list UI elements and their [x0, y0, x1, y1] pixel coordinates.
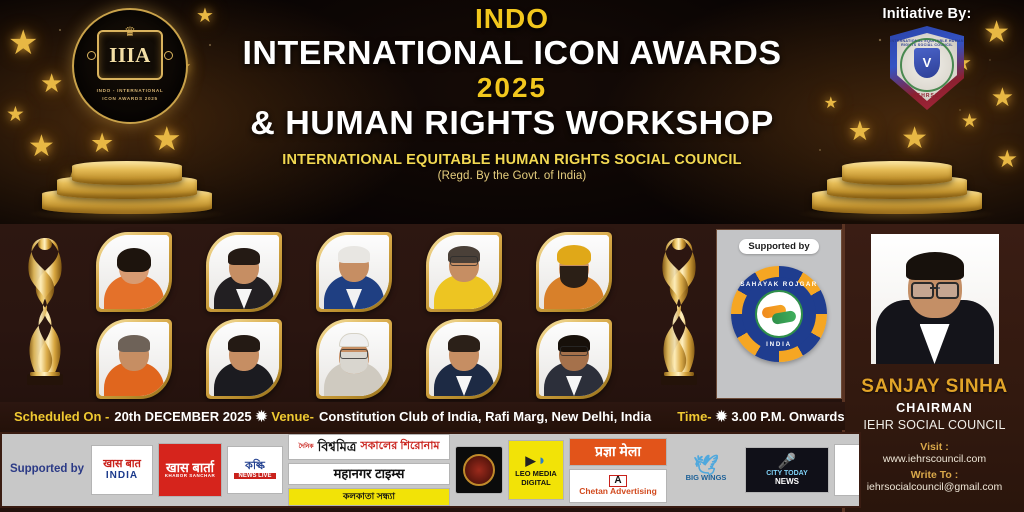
badge-frame: IIIA: [97, 30, 163, 80]
honouree-portrait[interactable]: [316, 232, 392, 312]
time-value: 3.00 P.M. Onwards: [731, 410, 844, 423]
chairman-portrait: [871, 234, 999, 364]
event-date: 20th DECEMBER 2025: [114, 410, 251, 423]
supported-by-chip: Supported by: [739, 239, 818, 254]
badge-caption-line2: ICON AWARDS 2025: [81, 95, 179, 102]
gold-podium: [812, 152, 982, 214]
shield-monogram: V: [914, 48, 940, 78]
shield-bottom-text: IEHRSC: [890, 93, 964, 99]
prayer-cap-icon: [339, 333, 369, 347]
star-icon: ✹: [252, 409, 272, 423]
title-line-year: 2025: [196, 72, 828, 104]
time-label: Time-: [677, 410, 711, 423]
poster-title-block: INDO INTERNATIONAL ICON AWARDS 2025 & HU…: [196, 4, 828, 182]
portrait-photo: [209, 235, 279, 309]
sponsor-logo-emblem-black[interactable]: [455, 446, 503, 494]
council-subtitle: INTERNATIONAL EQUITABLE HUMAN RIGHTS SOC…: [196, 152, 828, 168]
sponsor-logo-text: खास बात: [103, 459, 141, 471]
chairman-role: CHAIRMAN: [845, 401, 1024, 415]
sponsor-logo-column-kalki: কল্কি NEWS LIVE: [227, 446, 283, 494]
trophy-graphic: [648, 232, 710, 392]
sponsor-logo-sub: DIGITAL: [521, 479, 550, 487]
honouree-grid: [96, 232, 646, 400]
sponsor-logo-text: BIG WINGS: [686, 474, 727, 482]
star-icon: ✹: [712, 409, 732, 423]
sponsor-logo-text: सहारा: [860, 461, 861, 477]
portrait-photo: [319, 235, 389, 309]
sponsor-logo-column-bengali: দৈনিক বিশ্বমিত্র সকালের শিরোনাম महानगर ट…: [288, 434, 450, 506]
play-icon: ▶: [525, 454, 535, 468]
sponsor-logo-leo-media-digital[interactable]: ▶ ◗ LEO MEDIA DIGITAL: [508, 440, 564, 500]
award-trophy-statue: [648, 232, 710, 392]
sponsor-logo-pragya-mela[interactable]: प्रज्ञा मेला: [569, 438, 667, 466]
badge-monogram: IIIA: [109, 43, 151, 68]
sponsor-logo-sub: INDIA: [106, 471, 138, 482]
leaf-icon: ◗: [537, 453, 546, 469]
honouree-portrait[interactable]: [536, 232, 612, 312]
scheduled-on-label: Scheduled On -: [14, 410, 109, 423]
sponsor-bar: Supported by खास बात INDIA खास बार्ता KH…: [0, 432, 861, 508]
website-link[interactable]: www.iehrscouncil.com: [845, 453, 1024, 465]
sponsor-logo-text: LEO MEDIA: [515, 470, 557, 478]
sponsor-logo-text: महानगर टाइम्स: [334, 467, 405, 481]
portrait-photo: [99, 322, 169, 396]
sponsor-logo-text: खास बार्ता: [166, 461, 214, 475]
honouree-portrait[interactable]: [536, 319, 612, 399]
sponsor-logo-sub: KHABOR SANCHAR: [165, 474, 216, 479]
initiative-block: Initiative By: INTERNATIONAL EQUITABLE H…: [842, 6, 1012, 110]
chairman-panel: SANJAY SINHA CHAIRMAN IEHR SOCIAL COUNCI…: [842, 224, 1024, 512]
portrait-photo: [99, 235, 169, 309]
schedule-bar: Scheduled On - 20th DECEMBER 2025 ✹ Venu…: [0, 402, 845, 430]
sponsor-logo-text: কলকাতা সন্ধ্যা: [343, 492, 395, 501]
badge-caption-line1: INDO - INTERNATIONAL: [81, 87, 179, 94]
honouree-portrait[interactable]: [316, 319, 392, 399]
portrait-photo: [209, 322, 279, 396]
turban-icon: [557, 245, 591, 265]
sponsor-logo-text: কল্কি: [245, 461, 265, 473]
sponsor-logo-text: प्रज्ञा मेला: [595, 444, 641, 459]
sponsor-logo-sub: NEWS: [775, 478, 799, 486]
honouree-portrait[interactable]: [426, 319, 502, 399]
sponsor-logo-khas-bartaa-india[interactable]: खास बात INDIA: [91, 445, 153, 495]
event-poster: ★ ★ ★ ★ ★ ★ ★ ★ ★ ★ ★ ★ ★ ★ ★ ★ ★ ★ ♛ II…: [0, 0, 1024, 512]
sponsor-logo-big-wings[interactable]: 🕊 BIG WINGS: [672, 446, 740, 494]
sponsor-logo-city-today-news[interactable]: 🎤 CITY TODAY NEWS: [745, 447, 829, 493]
poster-header: ★ ★ ★ ★ ★ ★ ★ ★ ★ ★ ★ ★ ★ ★ ★ ★ ★ ★ ♛ II…: [0, 0, 1024, 224]
sponsor-logo-sahara-jeevan[interactable]: ◠ सहारा जीवन: [834, 444, 861, 496]
sponsor-logo-kolkata-sandhya[interactable]: কলকাতা সন্ধ্যা: [288, 488, 450, 506]
microphone-icon: 🎤: [778, 454, 797, 469]
chairman-organisation: IEHR SOCIAL COUNCIL: [845, 418, 1024, 432]
write-to-label: Write To :: [845, 469, 1024, 481]
handshake-icon: [762, 304, 796, 324]
honouree-portrait[interactable]: [96, 232, 172, 312]
initiative-label: Initiative By:: [842, 6, 1012, 22]
honouree-portrait[interactable]: [426, 232, 502, 312]
award-trophy-statue: [14, 232, 76, 392]
supported-by-panel: Supported by SAHAYAK ROJGAR INDIA: [716, 229, 842, 399]
sponsor-supported-by-label: Supported by: [8, 463, 86, 477]
portrait-photo: [539, 235, 609, 309]
sponsor-logo-mahanagar-times[interactable]: महानगर टाइम्स: [288, 463, 450, 485]
honouree-portrait[interactable]: [96, 319, 172, 399]
sponsor-logo-text: Chetan Advertising: [579, 487, 657, 496]
portrait-photo: [429, 235, 499, 309]
logo-bottom-text: INDIA: [731, 341, 827, 348]
glasses-icon: [911, 282, 959, 296]
portrait-photo: [429, 322, 499, 396]
registration-note: (Regd. By the Govt. of India): [196, 170, 828, 182]
title-line-workshop: & HUMAN RIGHTS WORKSHOP: [187, 104, 838, 142]
sponsor-logo-chetan-advertising[interactable]: A Chetan Advertising: [569, 469, 667, 503]
sponsor-logo-bishwamitra[interactable]: দৈনিক বিশ্বমিত্র সকালের শিরোনাম: [288, 434, 450, 460]
sponsor-logo-kalki-news-live[interactable]: কল্কি NEWS LIVE: [227, 446, 283, 494]
portrait-photo: [319, 322, 389, 396]
title-line-indo: INDO: [196, 4, 828, 34]
award-logo-badge: ♛ IIIA INDO - INTERNATIONAL ICON AWARDS …: [72, 8, 188, 124]
sponsor-logo-text: সকালের শিরোনাম: [360, 441, 439, 453]
sponsor-logo-column-pragya: प्रज्ञा मेला A Chetan Advertising: [569, 438, 667, 503]
portrait-photo: [539, 322, 609, 396]
sahayak-rojgar-india-logo: SAHAYAK ROJGAR INDIA: [731, 266, 827, 362]
sponsor-logo-khas-barta[interactable]: खास बार्ता KHABOR SANCHAR: [158, 443, 222, 497]
venue-value: Constitution Club of India, Rafi Marg, N…: [319, 410, 651, 423]
honouree-portrait[interactable]: [206, 319, 282, 399]
sponsor-logo-sub: NEWS LIVE: [234, 473, 275, 479]
email-link[interactable]: iehrsocialcouncil@gmail.com: [845, 481, 1024, 493]
sponsor-logo-text: বিশ্বমিত্র: [318, 440, 357, 454]
chairman-name: SANJAY SINHA: [845, 376, 1024, 398]
honouree-portrait[interactable]: [206, 232, 282, 312]
wings-icon: 🕊: [693, 458, 718, 474]
sponsor-logo-sub: দৈনিক: [298, 444, 313, 450]
title-line-main: INTERNATIONAL ICON AWARDS: [187, 34, 838, 72]
iehrsc-shield-emblem: INTERNATIONAL EQUITABLE HUMAN RIGHTS SOC…: [890, 26, 964, 110]
emblem-icon: [463, 454, 495, 486]
visit-label: Visit :: [845, 441, 1024, 453]
trophy-graphic: [14, 232, 76, 392]
sponsor-logo-text: CITY TODAY: [766, 470, 808, 477]
gold-podium: [42, 152, 212, 214]
venue-label: Venue-: [271, 410, 314, 423]
logo-top-text: SAHAYAK ROJGAR: [731, 281, 827, 288]
badge-caption: INDO - INTERNATIONAL ICON AWARDS 2025: [81, 87, 179, 102]
